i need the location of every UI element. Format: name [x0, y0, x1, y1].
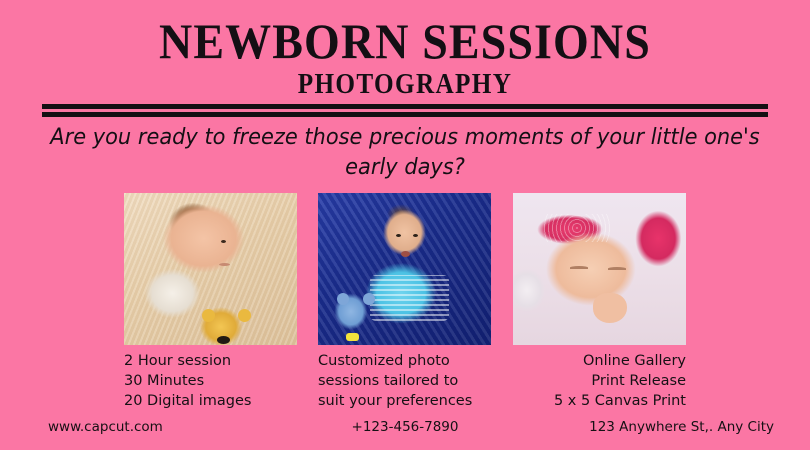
baby-mouth-icon — [401, 251, 410, 257]
yellow-bow-icon — [346, 333, 359, 341]
footer-address: 123 Anywhere St,. Any City — [589, 419, 774, 435]
baby-eye-icon — [221, 240, 226, 243]
headband-lace-pattern — [544, 214, 610, 241]
double-rule-divider — [42, 104, 768, 117]
baby-hand-icon — [593, 293, 627, 323]
photo-baby-blue-blanket — [318, 193, 491, 345]
teddy-ear-right-icon — [238, 309, 251, 322]
photo-baby-fur-teddy — [124, 193, 297, 345]
striped-outfit-pattern — [370, 275, 450, 321]
photo-3-caption: Online Gallery Print Release 5 x 5 Canva… — [500, 352, 686, 412]
photo-sleeping-baby-headband — [513, 193, 686, 345]
photo-2-caption: Customized photo sessions tailored to su… — [318, 352, 508, 412]
photo-gallery — [0, 193, 810, 345]
poster-canvas: NEWBORN SESSIONS PHOTOGRAPHY Are you rea… — [0, 0, 810, 450]
teddy-ear-left-icon — [202, 309, 215, 322]
photo-2-image — [318, 193, 491, 345]
divider-bar-bottom — [42, 112, 768, 117]
footer-website[interactable]: www.capcut.com — [48, 419, 163, 435]
photo-3-image — [513, 193, 686, 345]
tagline-text: Are you ready to freeze those precious m… — [28, 123, 781, 183]
closed-eye-left-icon — [570, 266, 588, 269]
photo-1-caption: 2 Hour session 30 Minutes 20 Digital ima… — [124, 352, 314, 412]
baby-eye-right-icon — [413, 234, 418, 237]
page-title: NEWBORN SESSIONS — [32, 16, 777, 67]
teddy-nose-icon — [217, 336, 230, 344]
baby-eye-left-icon — [396, 234, 401, 237]
closed-eye-right-icon — [608, 267, 626, 270]
footer-phone[interactable]: +123-456-7890 — [352, 419, 459, 435]
page-subtitle: PHOTOGRAPHY — [41, 69, 770, 101]
poster-footer: www.capcut.com +123-456-7890 123 Anywher… — [0, 419, 810, 439]
blue-teddy-ear-left-icon — [337, 293, 349, 305]
poster-header: NEWBORN SESSIONS PHOTOGRAPHY — [0, 0, 810, 101]
photo-1-image — [124, 193, 297, 345]
divider-bar-top — [42, 104, 768, 109]
baby-mouth-icon — [219, 263, 230, 266]
